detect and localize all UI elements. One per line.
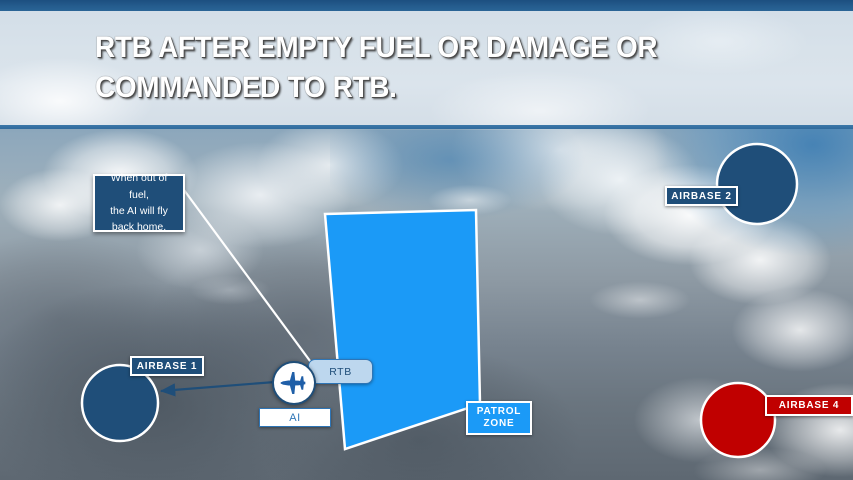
patrol-zone-label[interactable]: PATROL ZONE bbox=[466, 401, 532, 435]
top-accent-strip bbox=[0, 0, 853, 11]
header-bottom-rule bbox=[0, 125, 853, 129]
airbase-1-label[interactable]: AIRBASE 1 bbox=[130, 356, 204, 376]
airbase-4-label[interactable]: AIRBASE 4 bbox=[765, 395, 853, 416]
fuel-callout-box: When out of fuel, the AI will fly back h… bbox=[93, 174, 185, 232]
presentation-slide: RTB AFTER EMPTY FUEL OR DAMAGE OR COMMAN… bbox=[0, 0, 853, 480]
slide-title: RTB AFTER EMPTY FUEL OR DAMAGE OR COMMAN… bbox=[95, 28, 746, 108]
ai-unit-label[interactable]: AI bbox=[259, 408, 331, 427]
ai-aircraft-marker[interactable] bbox=[272, 361, 316, 405]
airbase-2-label[interactable]: AIRBASE 2 bbox=[665, 186, 738, 206]
fighter-jet-icon bbox=[277, 366, 311, 400]
rtb-state-chip[interactable]: RTB bbox=[308, 359, 373, 384]
